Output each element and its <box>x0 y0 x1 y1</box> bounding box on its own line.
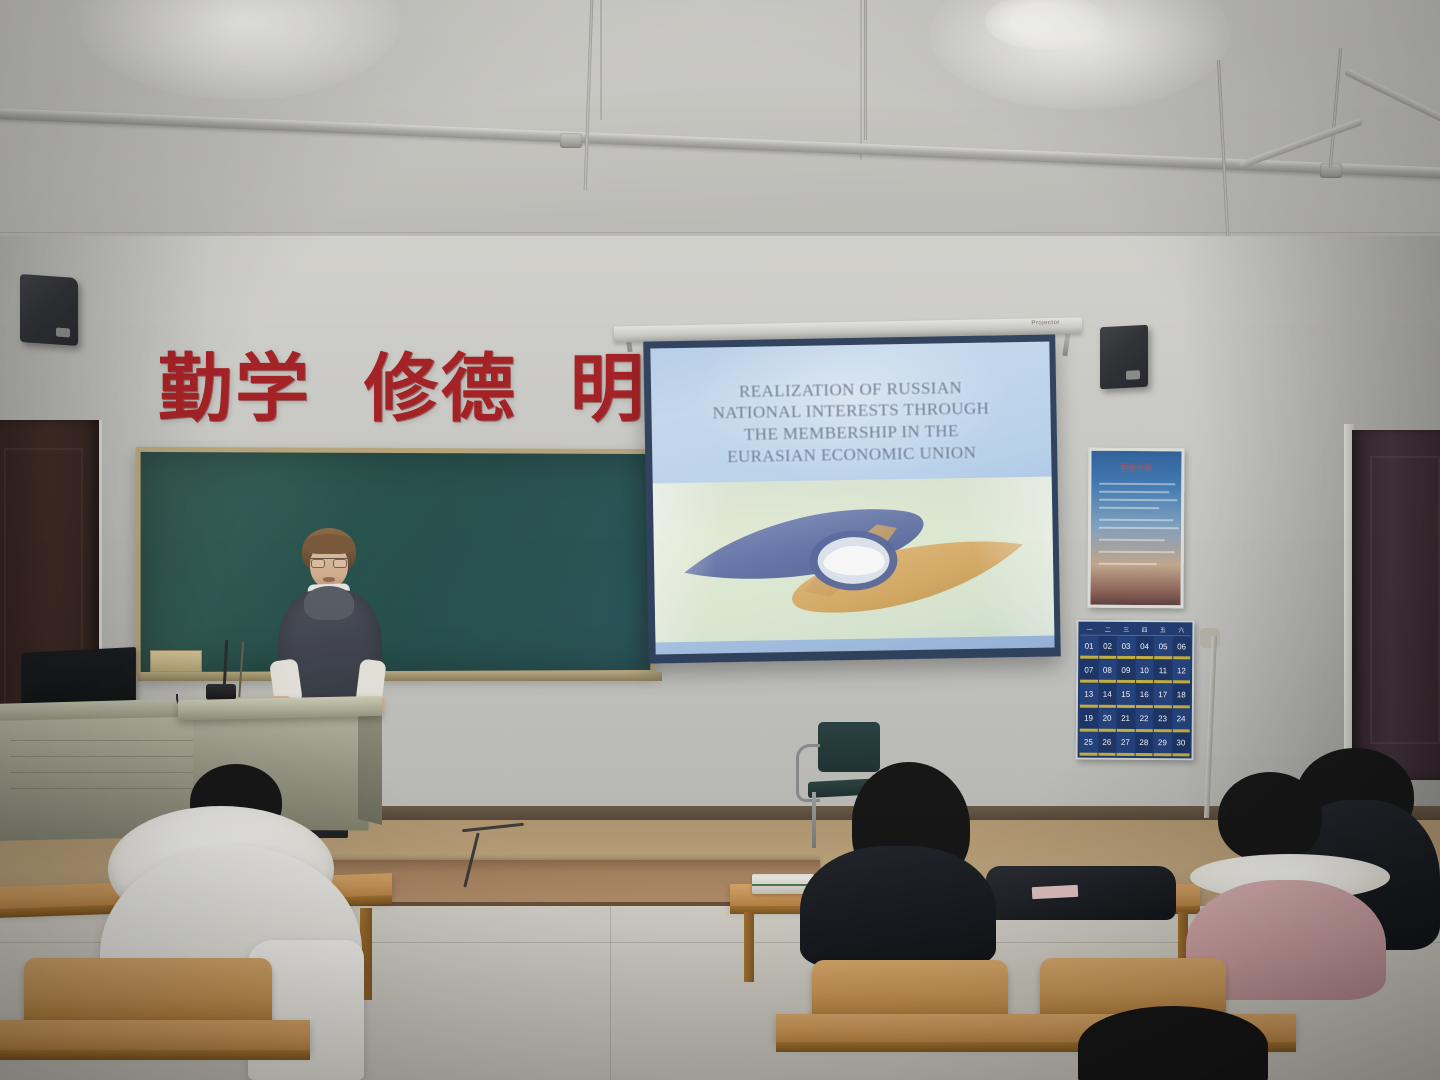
calendar-day: 07 <box>1080 660 1098 683</box>
calendar-day: 04 <box>1136 636 1154 659</box>
calendar-day: 22 <box>1135 709 1153 732</box>
chalkboard-glare <box>141 452 651 672</box>
desk-microphone[interactable] <box>206 684 236 700</box>
presentation-slide: REALIZATION OF RUSSIAN NATIONAL INTEREST… <box>650 342 1054 655</box>
wall-slogan: 勤学修德明 <box>158 352 647 426</box>
desk-leg <box>744 912 754 982</box>
calendar-day: 30 <box>1172 733 1190 756</box>
door-panel <box>1370 456 1440 744</box>
calendar-day: 13 <box>1080 684 1098 707</box>
housing-brand-label: Projector <box>1031 320 1060 327</box>
lecturer-mouth <box>323 577 335 582</box>
calendar-day: 24 <box>1172 709 1190 732</box>
slide-title: REALIZATION OF RUSSIAN NATIONAL INTEREST… <box>675 376 1028 469</box>
chalkboard <box>136 447 656 677</box>
calendar-day: 26 <box>1098 733 1116 756</box>
eaeu-flag <box>653 476 1055 642</box>
calendar-weekday: 一 <box>1087 625 1093 634</box>
calendar-day: 27 <box>1117 733 1135 756</box>
mop-head <box>1200 628 1220 648</box>
lecturer-hair-front <box>304 534 354 554</box>
wall-speaker-left <box>20 274 78 346</box>
chalk-tray <box>138 672 662 681</box>
calendar-weekday: 三 <box>1123 625 1129 634</box>
calendar-day: 18 <box>1172 685 1190 708</box>
student-chair[interactable] <box>24 958 272 1026</box>
calendar-day: 10 <box>1136 660 1154 683</box>
loose-papers <box>1032 885 1079 899</box>
calendar-weekday: 五 <box>1160 625 1166 634</box>
speaker-badge <box>1126 370 1140 380</box>
wall-calendar: 一 二 三 四 五 六 01 02 03 04 05 06 07 08 09 1… <box>1076 620 1195 761</box>
calendar-weekday: 六 <box>1178 625 1184 634</box>
calendar-day: 14 <box>1098 684 1116 707</box>
calendar-day: 12 <box>1173 660 1191 683</box>
chalk-box <box>150 650 202 672</box>
calendar-day: 05 <box>1154 636 1172 659</box>
lecture-podium <box>178 696 382 720</box>
calendar-day: 08 <box>1099 660 1117 683</box>
calendar-grid: 01 02 03 04 05 06 07 08 09 10 11 12 13 1… <box>1080 636 1191 757</box>
calendar-day: 28 <box>1135 733 1153 756</box>
lecture-podium-side <box>358 709 382 825</box>
calendar-header: 一 二 三 四 五 六 <box>1080 624 1190 637</box>
ceiling <box>0 0 1440 262</box>
slogan-word-3: 明 <box>570 346 647 432</box>
calendar-day: 01 <box>1080 636 1098 659</box>
calendar-day: 09 <box>1117 660 1135 683</box>
calendar-day: 02 <box>1099 636 1117 659</box>
screen-frame: REALIZATION OF RUSSIAN NATIONAL INTEREST… <box>643 334 1061 663</box>
projector-screen: REALIZATION OF RUSSIAN NATIONAL INTEREST… <box>643 334 1061 663</box>
calendar-day: 06 <box>1173 636 1191 659</box>
calendar-weekday: 四 <box>1142 625 1148 634</box>
desk-edge <box>0 1050 310 1060</box>
chalkboard-surface <box>141 452 651 672</box>
wall-notice-poster: 班级公约 <box>1087 448 1184 609</box>
lecturer-cowl-neck <box>304 586 354 620</box>
student-chair[interactable] <box>812 960 1008 1022</box>
calendar-weekday: 二 <box>1105 625 1111 634</box>
calendar-day: 20 <box>1098 708 1116 731</box>
student-hair <box>1078 1006 1268 1080</box>
calendar-day: 16 <box>1135 684 1153 707</box>
wall-speaker-right <box>1100 325 1148 390</box>
backpack-on-desk <box>986 866 1176 920</box>
student-desk-front-left <box>0 1020 310 1052</box>
student-black-coat <box>800 846 996 968</box>
door-right[interactable] <box>1352 430 1440 780</box>
slogan-word-2: 修德 <box>364 346 518 432</box>
pipe-joint <box>560 133 582 148</box>
classroom-photo: 勤学修德明 Projector REALIZATION OF RUSSIAN <box>0 0 1440 1080</box>
slogan-word-1: 勤学 <box>158 346 312 432</box>
glasses-icon <box>311 558 347 567</box>
student-hair <box>1218 772 1322 862</box>
calendar-day: 17 <box>1154 685 1172 708</box>
flag-fold-shading <box>653 476 1055 642</box>
calendar-day: 03 <box>1117 636 1135 659</box>
calendar-day: 25 <box>1080 732 1098 755</box>
calendar-day: 11 <box>1154 660 1172 683</box>
calendar-day: 29 <box>1154 733 1172 756</box>
calendar-day: 15 <box>1117 684 1135 707</box>
calendar-day: 21 <box>1117 708 1135 731</box>
speaker-badge <box>56 327 70 337</box>
calendar-day: 23 <box>1154 709 1172 732</box>
hanger-rod <box>864 0 867 140</box>
poster-title: 班级公约 <box>1091 463 1181 474</box>
chair-back <box>818 722 880 772</box>
calendar-day: 19 <box>1080 708 1098 731</box>
